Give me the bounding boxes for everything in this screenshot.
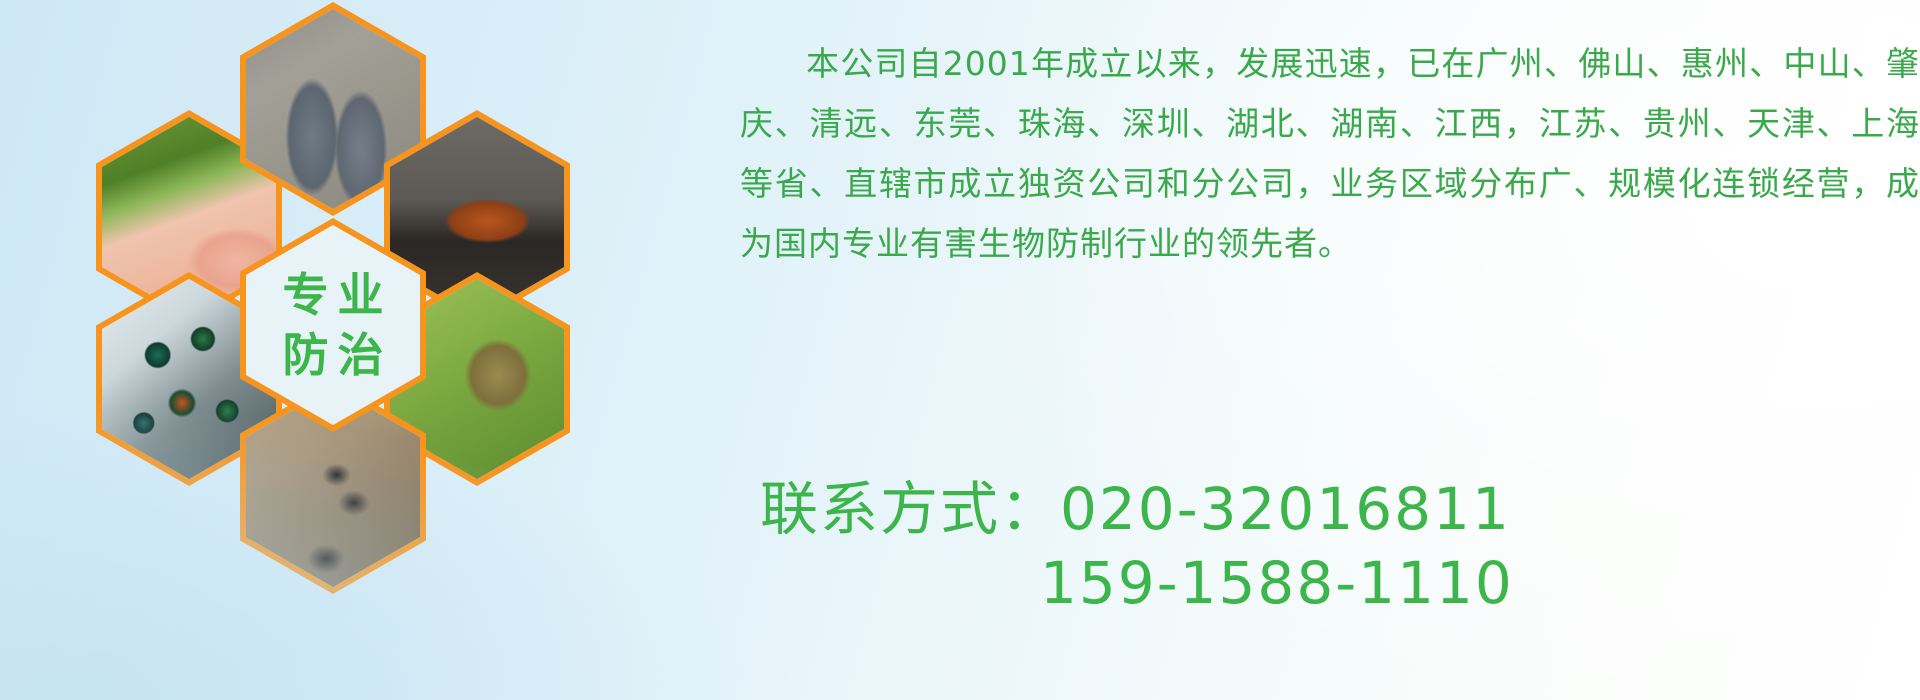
contact-block: 联系方式：020-32016811 159-1588-1110	[760, 472, 1910, 620]
company-intro-paragraph: 本公司自2001年成立以来，发展迅速，已在广州、佛山、惠州、中山、肇庆、清远、东…	[740, 34, 1920, 274]
promo-banner: 专业 防治 本公司自2001年成立以来，发展迅速，已在广州、佛山、惠州、中山、肇…	[0, 0, 1920, 700]
company-intro: 本公司自2001年成立以来，发展迅速，已在广州、佛山、惠州、中山、肇庆、清远、东…	[740, 34, 1920, 274]
hex-inner-slogan: 专业 防治	[246, 225, 420, 425]
contact-mobile[interactable]: 159-1588-1110	[760, 546, 1910, 620]
slogan-line-1: 专业	[274, 272, 393, 318]
honeycomb-gallery: 专业 防治	[96, 0, 616, 572]
slogan-text: 专业 防治	[246, 225, 420, 425]
contact-landline[interactable]: 联系方式：020-32016811	[760, 472, 1910, 546]
slogan-line-2: 防治	[274, 332, 393, 378]
